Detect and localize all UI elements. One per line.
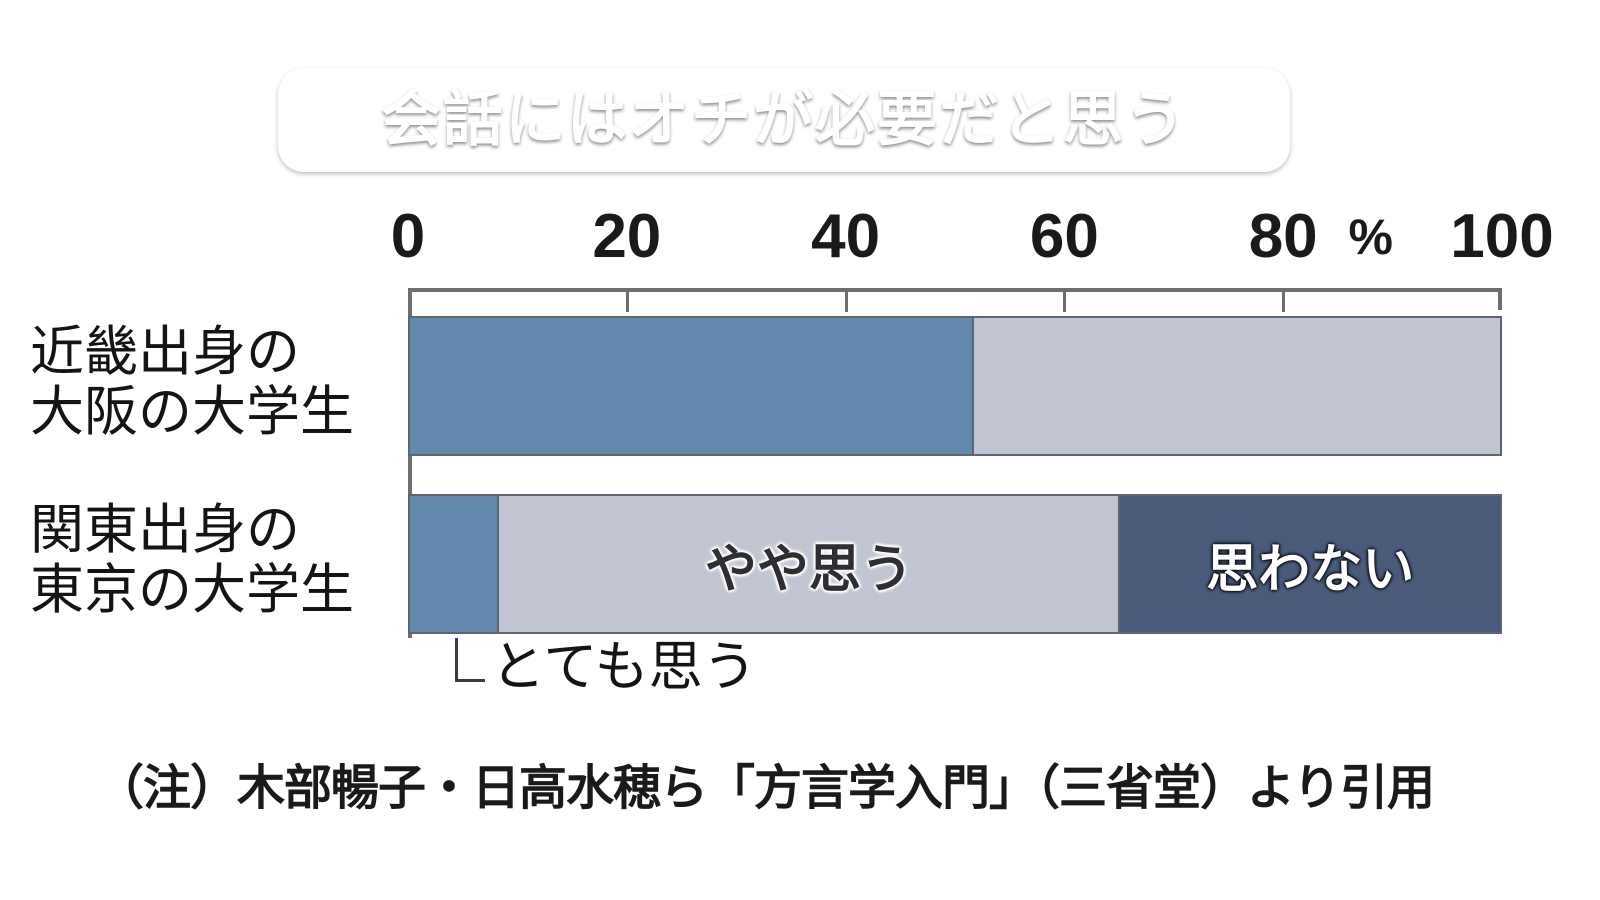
- chart-container: 会話にはオチが必要だと思う 近畿出身の 大阪の大学生 関東出身の 東京の大学生 …: [0, 0, 1600, 900]
- x-axis-tick-label-40: 40: [811, 206, 880, 268]
- callout-label: とても思う: [491, 638, 757, 697]
- x-axis-tick-label-20: 20: [592, 206, 661, 268]
- callout-leader-horizontal: [455, 679, 485, 682]
- x-axis-line: [408, 288, 1502, 292]
- x-axis-right-cap: [1498, 288, 1502, 310]
- bar-segment-label: 思わない: [1206, 527, 1414, 602]
- x-axis-unit-label: %: [1348, 212, 1392, 262]
- category-label-line1: 関東出身の: [30, 500, 394, 560]
- chart-title-banner: 会話にはオチが必要だと思う: [278, 68, 1290, 172]
- bar-segment-somewhat: やや思う: [497, 496, 1118, 632]
- x-axis-tick-60: [1063, 292, 1066, 312]
- page-title: 会話にはオチが必要だと思う: [381, 90, 1187, 150]
- x-axis-tick-label-0: 0: [391, 206, 425, 268]
- x-axis-tick-40: [845, 292, 848, 312]
- bar-segment-not_at_all: 思わない: [1118, 496, 1500, 632]
- category-label-kanto: 関東出身の 東京の大学生: [30, 500, 394, 621]
- x-axis-tick-80: [1282, 292, 1285, 312]
- category-label-line1: 近畿出身の: [30, 322, 394, 382]
- category-label-line2: 東京の大学生: [30, 560, 394, 620]
- x-axis-tick-label-60: 60: [1030, 206, 1099, 268]
- bar-segment-label: やや思う: [705, 527, 913, 602]
- chart-footnote: （注）木部暢子・日高水穂ら「方言学入門」（三省堂）より引用: [96, 748, 1434, 818]
- category-label-line2: 大阪の大学生: [30, 382, 394, 442]
- bar-segment-very_much: [410, 496, 497, 632]
- x-axis-tick-20: [626, 292, 629, 312]
- x-axis-tick-label-80: 80: [1249, 206, 1318, 268]
- bar-segment-very_much: [410, 318, 972, 454]
- plot-area: 020406080100 % やや思う思わない: [408, 288, 1502, 638]
- bar-segment-somewhat: [972, 318, 1500, 454]
- bar-row-kinki: [408, 316, 1502, 456]
- callout-totemo-omou: とても思う: [455, 638, 875, 708]
- x-axis-tick-label-100: 100: [1450, 206, 1553, 268]
- callout-leader-vertical: [455, 638, 458, 682]
- category-label-kinki: 近畿出身の 大阪の大学生: [30, 322, 394, 443]
- bar-row-kanto: やや思う思わない: [408, 494, 1502, 634]
